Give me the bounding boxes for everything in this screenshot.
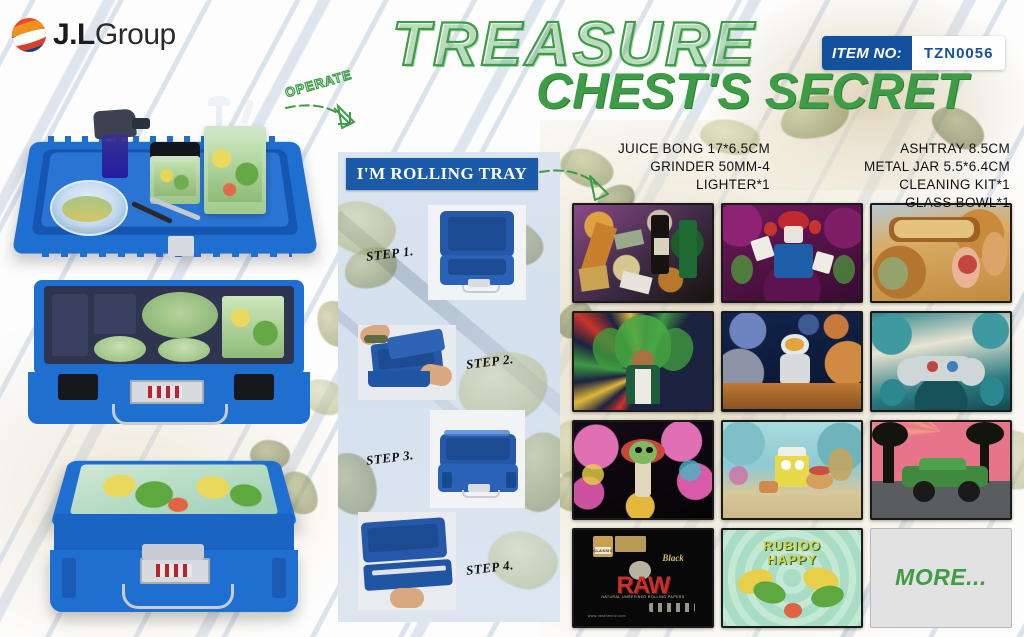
brand-logo: J.LGroup <box>12 18 176 52</box>
item-number-label: ITEM NO: <box>822 36 912 70</box>
product-sheet: J.LGroup TREASURE CHEST'S SECRET ITEM NO… <box>0 0 1024 637</box>
item-number-value: TZN0056 <box>912 36 1006 70</box>
tray-arrow-icon <box>532 152 632 218</box>
more-label: MORE... <box>895 564 987 591</box>
tile-gamepad[interactable] <box>870 311 1012 411</box>
page-title: TREASURE CHEST'S SECRET <box>392 16 757 75</box>
operate-annotation: OPERATE <box>280 72 390 142</box>
spec-list-right: ASHTRAY 8.5CM METAL JAR 5.5*6.4CM CLEANI… <box>800 140 1010 212</box>
operate-arrow-icon <box>280 72 390 142</box>
tile-skull-joker[interactable] <box>721 203 863 303</box>
case-handle <box>122 584 234 609</box>
tile-alien-mushroom[interactable] <box>572 420 714 520</box>
tile-rubioo-lady[interactable] <box>870 203 1012 303</box>
step-1-image <box>428 205 526 300</box>
tray-annotation-arrow <box>532 152 632 218</box>
brand-name: J.LGroup <box>53 20 176 50</box>
raw-website: www.rawthentic.com <box>588 614 626 618</box>
raw-black-label: Black <box>662 553 684 563</box>
title-line-chests-secret: CHEST'S SECRET <box>536 68 967 116</box>
tray-with-accessories-photo <box>8 96 320 266</box>
spec-cleaning-kit: CLEANING KIT*1 <box>800 176 1010 194</box>
rubioo-happy-sticker <box>70 464 279 514</box>
tile-astronaut[interactable] <box>721 311 863 411</box>
step-3-image <box>430 410 525 508</box>
tile-raw[interactable]: CLASSIC Black RAW NATURAL UNREFINED ROLL… <box>572 528 714 628</box>
tile-lowrider[interactable] <box>870 420 1012 520</box>
rubioo-line-2: HAPPY <box>767 552 817 567</box>
spec-ashtray: ASHTRAY 8.5CM <box>800 140 1010 158</box>
tile-more[interactable]: MORE... <box>870 528 1012 628</box>
raw-tagline: NATURAL UNREFINED ROLLING PAPERS <box>574 595 712 599</box>
spec-glass-bowl: GLASS BOWL*1 <box>800 194 1010 212</box>
brand-name-bold: J.L <box>53 18 95 51</box>
raw-classic-label: CLASSIC <box>595 547 612 554</box>
open-case-foam-insert-photo <box>6 274 326 440</box>
case-handle <box>112 404 228 425</box>
tile-spongebob[interactable] <box>721 420 863 520</box>
step-2-image <box>358 325 456 400</box>
tile-liquor-money[interactable] <box>572 203 714 303</box>
item-number-badge: ITEM NO: TZN0056 <box>822 36 1005 70</box>
design-tile-grid: CLASSIC Black RAW NATURAL UNREFINED ROLL… <box>572 203 1012 628</box>
spec-metal-jar: METAL JAR 5.5*6.4CM <box>800 158 1010 176</box>
tile-420-smoker[interactable] <box>572 311 714 411</box>
rolling-tray-banner: I'M ROLLING TRAY <box>346 158 538 190</box>
tile-rubioo-happy[interactable]: RUBIOO HAPPY <box>721 528 863 628</box>
brand-name-light: Group <box>95 18 176 51</box>
globe-swoosh-logo-icon <box>12 18 46 52</box>
rolling-tray-banner-label: I'M ROLLING TRAY <box>357 164 527 184</box>
closed-case-sticker-photo <box>18 438 318 634</box>
step-4-image <box>358 512 456 610</box>
